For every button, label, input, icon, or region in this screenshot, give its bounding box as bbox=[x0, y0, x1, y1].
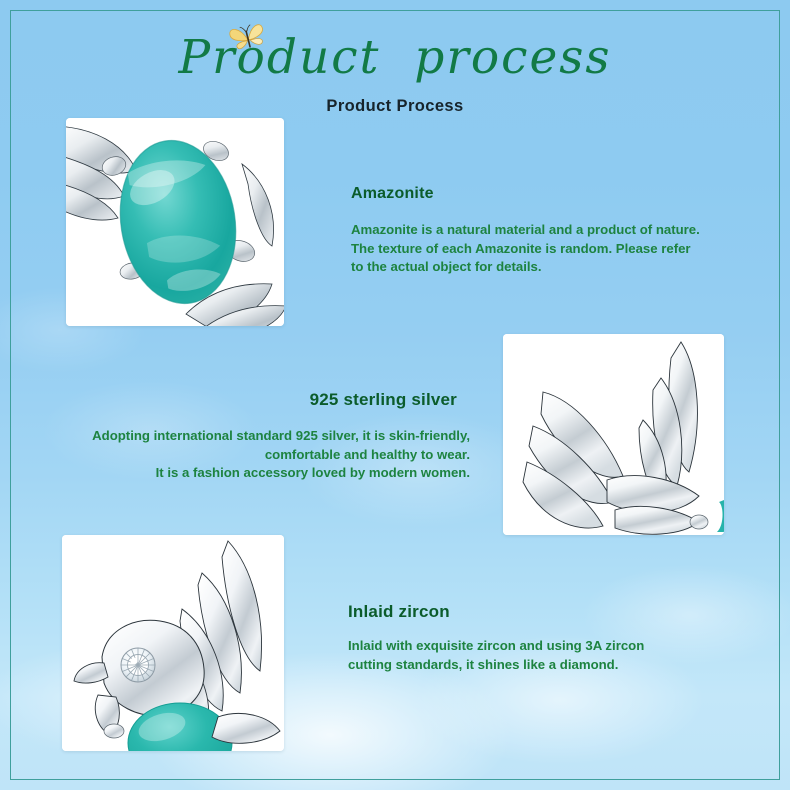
silver-wing-image bbox=[503, 334, 724, 535]
product-process-page: Product process Product Process bbox=[0, 0, 790, 790]
section-heading-sterling-silver: 925 sterling silver bbox=[310, 390, 457, 410]
section-body-amazonite: Amazonite is a natural material and a pr… bbox=[351, 221, 701, 277]
section-body-sterling-silver: Adopting international standard 925 silv… bbox=[50, 427, 470, 483]
section-body-inlaid-zircon: Inlaid with exquisite zircon and using 3… bbox=[348, 637, 678, 674]
bird-zircon-image bbox=[62, 535, 284, 751]
image-card-amazonite bbox=[66, 118, 284, 326]
section-heading-inlaid-zircon: Inlaid zircon bbox=[348, 602, 450, 622]
page-title-script: Product process bbox=[0, 34, 790, 81]
page-header: Product process Product Process bbox=[0, 0, 790, 125]
amazonite-gemstone-image bbox=[66, 118, 284, 326]
image-card-inlaid-zircon bbox=[62, 535, 284, 751]
image-card-sterling-silver bbox=[503, 334, 724, 535]
page-subtitle: Product Process bbox=[0, 97, 790, 116]
section-heading-amazonite: Amazonite bbox=[351, 185, 434, 203]
zircon-stone bbox=[121, 648, 155, 682]
